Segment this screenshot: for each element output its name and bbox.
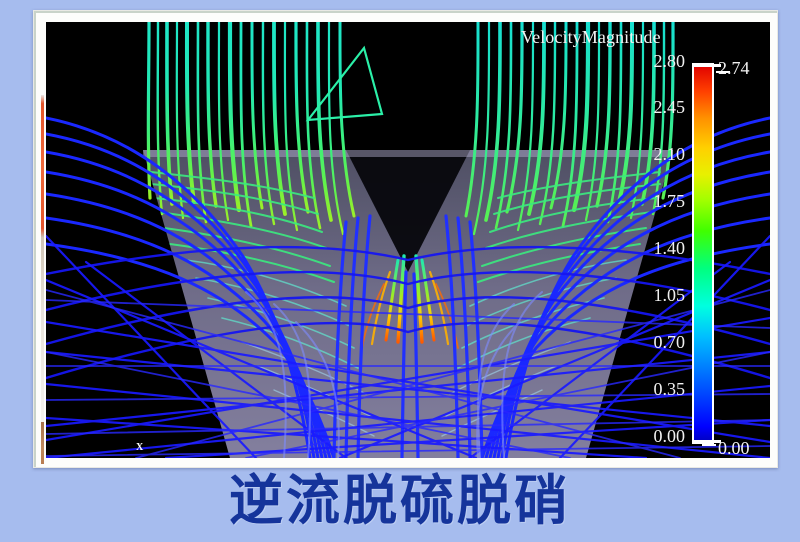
colorbar-cap-top (693, 64, 721, 67)
page-background: X VelocityMagnitude 2.80 2.45 2.10 1.75 … (0, 0, 800, 542)
colorbar-cap-bottom (693, 440, 721, 443)
colorbar-gradient (692, 63, 714, 444)
colorbar-tick-8: 0.00 (613, 426, 685, 447)
axis-label-x: X (136, 442, 143, 453)
colorbar-max-label: 2.74 (718, 58, 750, 79)
colorbar-tick-1: 2.45 (613, 97, 685, 118)
colorbar-tick-5: 1.05 (613, 285, 685, 306)
colorbar-min-label: 0.00 (718, 438, 750, 459)
colorbar-tick-0: 2.80 (613, 51, 685, 72)
colorbar-tick-4: 1.40 (613, 238, 685, 259)
left-edge-orange-marker (41, 95, 44, 237)
colorbar-title: VelocityMagnitude (521, 27, 661, 48)
left-edge-light-marker (41, 237, 44, 422)
colorbar-min-whisker (702, 444, 716, 446)
colorbar-tick-6: 0.70 (613, 332, 685, 353)
page-title: 逆流脱硫脱硝 (0, 470, 800, 532)
colorbar-tick-7: 0.35 (613, 379, 685, 400)
left-edge-brown-marker (41, 422, 44, 464)
colorbar-tick-3: 1.75 (613, 191, 685, 212)
colorbar[interactable] (690, 61, 716, 446)
axis-indicator: X (96, 440, 150, 458)
colorbar-tick-2: 2.10 (613, 144, 685, 165)
